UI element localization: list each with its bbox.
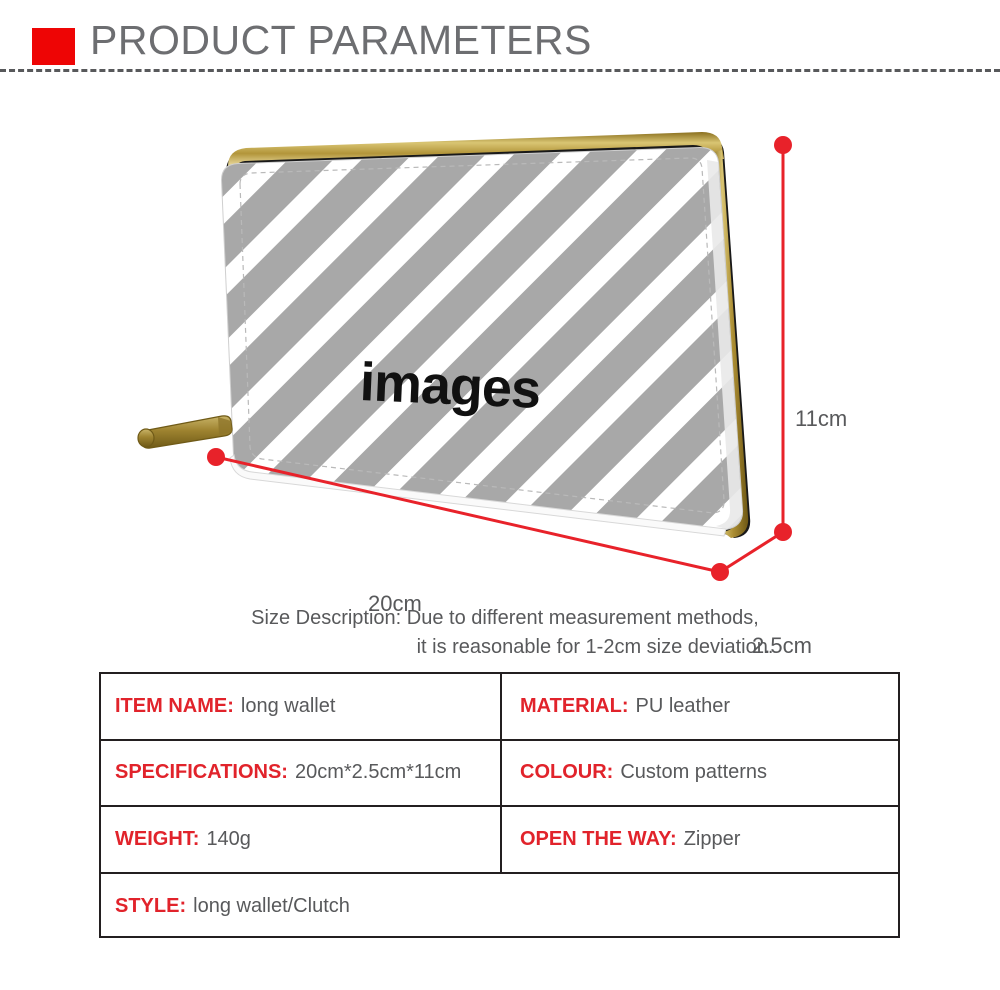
header-red-square-marker — [32, 28, 75, 65]
spec-cell-specifications: SPECIFICATIONS: 20cm*2.5cm*11cm — [101, 741, 500, 806]
wallet-drawing — [0, 80, 1000, 600]
dimension-dot-left — [207, 448, 225, 466]
dimension-dot-right — [774, 523, 792, 541]
product-watermark-text: images — [359, 351, 542, 421]
spec-cell-open-the-way: OPEN THE WAY: Zipper — [500, 807, 898, 872]
table-row: SPECIFICATIONS: 20cm*2.5cm*11cm COLOUR: … — [101, 741, 898, 808]
spec-value: 140g — [206, 828, 251, 851]
spec-key: COLOUR: — [520, 761, 613, 784]
spec-value: Custom patterns — [620, 761, 767, 784]
size-description-line-1: Size Description: Due to different measu… — [0, 604, 1000, 633]
zipper-pull-icon — [138, 416, 232, 448]
table-row: ITEM NAME: long wallet MATERIAL: PU leat… — [101, 674, 898, 741]
spec-cell-colour: COLOUR: Custom patterns — [500, 741, 898, 806]
spec-value: PU leather — [636, 695, 731, 718]
spec-key: MATERIAL: — [520, 695, 629, 718]
dimension-dot-top — [774, 136, 792, 154]
spec-value: 20cm*2.5cm*11cm — [295, 761, 461, 784]
spec-value: Zipper — [684, 828, 741, 851]
dimension-dot-bottom — [711, 563, 729, 581]
spec-cell-style: STYLE: long wallet/Clutch — [101, 874, 898, 941]
spec-key: STYLE: — [115, 895, 186, 918]
spec-key: ITEM NAME: — [115, 695, 234, 718]
size-description: Size Description: Due to different measu… — [0, 604, 1000, 662]
spec-value: long wallet/Clutch — [193, 895, 350, 918]
header-dashed-divider — [0, 69, 1000, 72]
product-spec-table: ITEM NAME: long wallet MATERIAL: PU leat… — [99, 672, 900, 938]
table-row: STYLE: long wallet/Clutch — [101, 874, 898, 941]
spec-cell-material: MATERIAL: PU leather — [500, 674, 898, 739]
spec-cell-item-name: ITEM NAME: long wallet — [101, 674, 500, 739]
dimension-label-height: 11cm — [795, 406, 847, 432]
spec-key: WEIGHT: — [115, 828, 199, 851]
spec-key: OPEN THE WAY: — [520, 828, 677, 851]
spec-value: long wallet — [241, 695, 336, 718]
page-title: PRODUCT PARAMETERS — [90, 17, 592, 64]
spec-cell-weight: WEIGHT: 140g — [101, 807, 500, 872]
spec-key: SPECIFICATIONS: — [115, 761, 288, 784]
size-description-line-2: it is reasonable for 1-2cm size deviatio… — [0, 633, 1000, 662]
wallet-stripe-pattern — [200, 130, 780, 550]
dimension-line-depth — [720, 532, 783, 572]
page-header: PRODUCT PARAMETERS — [0, 0, 1000, 80]
table-row: WEIGHT: 140g OPEN THE WAY: Zipper — [101, 807, 898, 874]
product-illustration: images 20cm 11cm 2.5cm — [0, 80, 1000, 600]
